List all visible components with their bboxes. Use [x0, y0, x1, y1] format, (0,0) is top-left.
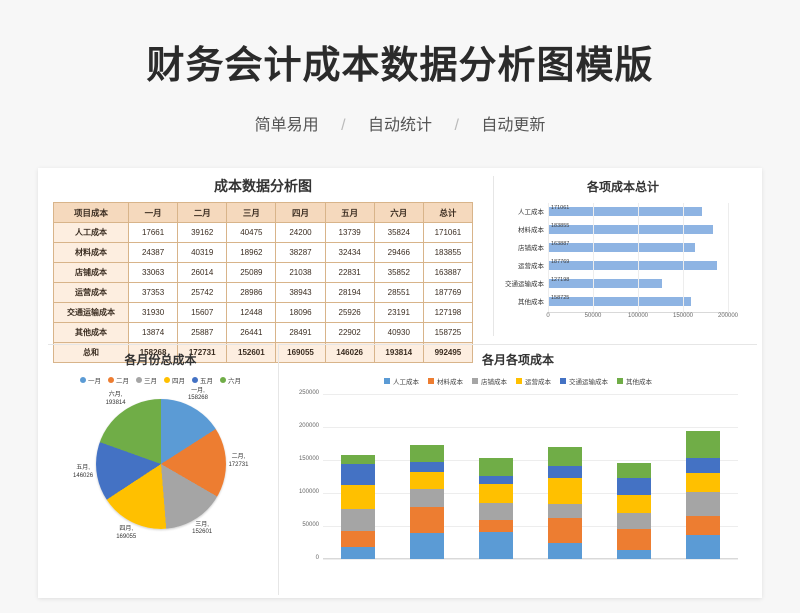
table-cell: 33063 [129, 263, 178, 283]
stacked-segment [686, 516, 720, 535]
table-cell: 35824 [374, 223, 423, 243]
table-col-header: 一月 [129, 203, 178, 223]
table-cell: 24200 [276, 223, 325, 243]
legend-swatch [516, 378, 522, 384]
table-cell: 18096 [276, 303, 325, 323]
table-cell: 25089 [227, 263, 276, 283]
table-cell: 28194 [325, 283, 374, 303]
table-cell: 23191 [374, 303, 423, 323]
stacked-segment [341, 485, 375, 510]
hbar-gridline [638, 203, 639, 313]
total-cost-chart-title: 各项成本总计 [494, 178, 752, 195]
stacked-segment [548, 518, 582, 543]
table-col-header: 四月 [276, 203, 325, 223]
table-cell: 29466 [374, 243, 423, 263]
table-row-label: 材料成本 [54, 243, 129, 263]
stacked-column [410, 445, 444, 559]
table-cell: 26441 [227, 323, 276, 343]
table-cell: 25926 [325, 303, 374, 323]
stacked-segment [479, 532, 513, 559]
hbar-x-tick-labels: 050000100000150000200000 [548, 313, 728, 325]
stacked-segment [617, 513, 651, 528]
stacked-legend-item[interactable]: 交通运输成本 [560, 376, 608, 386]
pie-data-label: 三月,152601 [180, 522, 224, 537]
stacked-column [341, 455, 375, 559]
table-cell: 12448 [227, 303, 276, 323]
stacked-legend-item[interactable]: 材料成本 [428, 376, 463, 386]
stacked-segment [548, 447, 582, 466]
hbar-category-label: 人工成本 [494, 206, 544, 216]
cost-table-section: 成本数据分析图 项目成本一月二月三月四月五月六月总计 人工成本176613916… [53, 176, 473, 363]
table-col-header: 六月 [374, 203, 423, 223]
hbar-bar [548, 243, 695, 252]
pie-data-label: 一月,158268 [176, 388, 220, 403]
stacked-segment [410, 507, 444, 534]
table-cell: 38943 [276, 283, 325, 303]
table-row-label: 交通运输成本 [54, 303, 129, 323]
stacked-segment [479, 476, 513, 484]
pie-legend-item[interactable]: 四月 [164, 375, 185, 385]
hbar-bar [548, 225, 713, 234]
legend-swatch [617, 378, 623, 384]
table-cell: 32434 [325, 243, 374, 263]
hbar-category-label: 运营成本 [494, 260, 544, 270]
hbar-value-label: 127198 [551, 277, 569, 283]
table-header-row: 项目成本一月二月三月四月五月六月总计 [54, 203, 473, 223]
pie-legend-item[interactable]: 一月 [80, 375, 101, 385]
legend-swatch [108, 377, 114, 383]
stacked-segment [341, 547, 375, 559]
stacked-segment [341, 455, 375, 464]
hbar-category-label: 店铺成本 [494, 242, 544, 252]
table-cell: 171061 [423, 223, 472, 243]
stacked-gridline [323, 394, 738, 395]
table-cell: 40319 [178, 243, 227, 263]
cost-table: 项目成本一月二月三月四月五月六月总计 人工成本17661391624047524… [53, 202, 473, 363]
monthly-total-pie-chart: 各月份总成本 一月二月三月四月五月六月 一月,158268二月,172731三月… [48, 344, 273, 595]
stacked-segment [410, 472, 444, 489]
pie-legend-item[interactable]: 二月 [108, 375, 129, 385]
table-cell: 127198 [423, 303, 472, 323]
table-row-label: 运营成本 [54, 283, 129, 303]
table-cell: 163887 [423, 263, 472, 283]
table-cell: 183855 [423, 243, 472, 263]
hbar-gridline [548, 203, 549, 313]
table-cell: 26014 [178, 263, 227, 283]
hbar-bar [548, 261, 717, 270]
table-row: 店铺成本330632601425089210382283135852163887 [54, 263, 473, 283]
table-row-label: 人工成本 [54, 223, 129, 243]
legend-label: 六月 [228, 375, 241, 385]
subtitle-item-2: 自动统计 [368, 117, 432, 134]
stacked-segment [617, 550, 651, 559]
stacked-segment [341, 531, 375, 547]
stacked-gridline [323, 460, 738, 461]
stacked-segment [548, 504, 582, 518]
subtitle-item-3: 自动更新 [481, 117, 545, 134]
hbar-bar [548, 207, 702, 216]
stacked-segment [341, 464, 375, 485]
stacked-segment [548, 478, 582, 504]
hbar-category-label: 交通运输成本 [494, 278, 544, 288]
stacked-legend-item[interactable]: 其他成本 [617, 376, 652, 386]
stacked-y-tick: 250000 [281, 390, 319, 396]
legend-swatch [384, 378, 390, 384]
legend-label: 运营成本 [525, 376, 551, 386]
table-row: 其他成本138742588726441284912290240930158725 [54, 323, 473, 343]
table-col-header: 二月 [178, 203, 227, 223]
hbar-gridline [728, 203, 729, 313]
table-row-label: 店铺成本 [54, 263, 129, 283]
pie-data-label: 六月,193814 [94, 392, 138, 407]
hbar-gridline [593, 203, 594, 313]
stacked-legend-item[interactable]: 人工成本 [384, 376, 419, 386]
stacked-segment [479, 484, 513, 503]
table-row: 人工成本176613916240475242001373935824171061 [54, 223, 473, 243]
pie-legend: 一月二月三月四月五月六月 [48, 375, 273, 385]
stacked-chart-legend: 人工成本材料成本店铺成本运营成本交通运输成本其他成本 [279, 376, 757, 386]
stacked-segment [479, 520, 513, 533]
table-cell: 13739 [325, 223, 374, 243]
legend-label: 二月 [116, 375, 129, 385]
table-cell: 31930 [129, 303, 178, 323]
table-cell: 40475 [227, 223, 276, 243]
table-col-header: 三月 [227, 203, 276, 223]
stacked-gridline [323, 493, 738, 494]
cost-table-title: 成本数据分析图 [53, 176, 473, 196]
table-cell: 35852 [374, 263, 423, 283]
legend-swatch [428, 378, 434, 384]
stacked-gridline [323, 427, 738, 428]
stacked-segment [617, 495, 651, 514]
stacked-legend-item[interactable]: 运营成本 [516, 376, 551, 386]
stacked-column [548, 447, 582, 559]
table-col-header: 项目成本 [54, 203, 129, 223]
table-cell: 28491 [276, 323, 325, 343]
table-cell: 25742 [178, 283, 227, 303]
table-cell: 39162 [178, 223, 227, 243]
stacked-segment [479, 458, 513, 475]
subtitle-item-1: 简单易用 [255, 117, 319, 134]
table-cell: 28986 [227, 283, 276, 303]
table-cell: 37353 [129, 283, 178, 303]
table-cell: 17661 [129, 223, 178, 243]
hbar-x-tick: 50000 [585, 313, 602, 319]
hbar-gridline [683, 203, 684, 313]
legend-label: 人工成本 [393, 376, 419, 386]
pie-chart-title: 各月份总成本 [48, 351, 273, 368]
subtitle-bar: 简单易用 / 自动统计 / 自动更新 [0, 111, 800, 135]
hbar-category-label: 其他成本 [494, 296, 544, 306]
monthly-item-stacked-chart: 各月各项成本 人工成本材料成本店铺成本运营成本交通运输成本其他成本 050000… [278, 344, 757, 595]
pie-plot-area: 一月,158268二月,172731三月,152601四月,169055五月,1… [76, 391, 246, 561]
pie-data-label: 五月,146026 [61, 465, 105, 480]
table-cell: 40930 [374, 323, 423, 343]
total-cost-plot-area: 人工成本171061材料成本183855店铺成本163887运营成本187769… [548, 203, 728, 313]
stacked-legend-item[interactable]: 店铺成本 [472, 376, 507, 386]
legend-label: 一月 [88, 375, 101, 385]
stacked-segment [479, 503, 513, 520]
legend-swatch [164, 377, 170, 383]
stacked-segment [686, 535, 720, 559]
hbar-value-label: 163887 [551, 241, 569, 247]
table-cell: 18962 [227, 243, 276, 263]
stacked-segment [548, 543, 582, 559]
hbar-value-label: 171061 [551, 205, 569, 211]
table-cell: 158725 [423, 323, 472, 343]
pie-data-label: 二月,172731 [216, 454, 260, 469]
stacked-y-tick: 0 [281, 555, 319, 561]
hbar-x-tick: 100000 [628, 313, 648, 319]
table-row-label: 其他成本 [54, 323, 129, 343]
legend-label: 其他成本 [626, 376, 652, 386]
stacked-segment [686, 492, 720, 516]
subtitle-separator-2: / [454, 117, 458, 134]
stacked-y-tick: 100000 [281, 489, 319, 495]
table-row: 运营成本373532574228986389432819428551187769 [54, 283, 473, 303]
stacked-segment [617, 478, 651, 495]
table-col-header: 总计 [423, 203, 472, 223]
hbar-x-tick: 200000 [718, 313, 738, 319]
legend-label: 五月 [200, 375, 213, 385]
hbar-value-label: 158725 [551, 295, 569, 301]
legend-label: 交通运输成本 [569, 376, 608, 386]
stacked-y-tick: 50000 [281, 522, 319, 528]
table-cell: 187769 [423, 283, 472, 303]
table-cell: 13874 [129, 323, 178, 343]
pie-disc [96, 399, 226, 529]
stacked-chart-title: 各月各项成本 [279, 351, 757, 368]
stacked-segment [686, 431, 720, 458]
stacked-column [617, 463, 651, 559]
legend-label: 三月 [144, 375, 157, 385]
stacked-segment [548, 466, 582, 478]
stacked-segment [686, 458, 720, 473]
table-row: 材料成本243874031918962382873243429466183855 [54, 243, 473, 263]
legend-swatch [560, 378, 566, 384]
legend-swatch [220, 377, 226, 383]
stacked-column [479, 458, 513, 559]
pie-legend-item[interactable]: 三月 [136, 375, 157, 385]
stacked-segment [410, 489, 444, 506]
stacked-segment [617, 463, 651, 478]
dashboard-board: 成本数据分析图 项目成本一月二月三月四月五月六月总计 人工成本176613916… [38, 168, 762, 598]
table-cell: 25887 [178, 323, 227, 343]
table-cell: 21038 [276, 263, 325, 283]
pie-legend-item[interactable]: 五月 [192, 375, 213, 385]
legend-swatch [80, 377, 86, 383]
hbar-bar [548, 297, 691, 306]
stacked-gridline [323, 559, 738, 560]
legend-swatch [136, 377, 142, 383]
subtitle-separator-1: / [341, 117, 345, 134]
hbar-value-label: 183855 [551, 223, 569, 229]
stacked-segment [617, 529, 651, 550]
hbar-x-tick: 0 [546, 313, 549, 319]
stacked-segment [341, 509, 375, 531]
table-cell: 28551 [374, 283, 423, 303]
hbar-x-tick: 150000 [673, 313, 693, 319]
table-cell: 22902 [325, 323, 374, 343]
hbar-value-label: 187769 [551, 259, 569, 265]
legend-label: 材料成本 [437, 376, 463, 386]
legend-label: 店铺成本 [481, 376, 507, 386]
legend-label: 四月 [172, 375, 185, 385]
pie-legend-item[interactable]: 六月 [220, 375, 241, 385]
page-title: 财务会计成本数据分析图模版 [0, 0, 800, 89]
stacked-segment [410, 533, 444, 559]
table-cell: 24387 [129, 243, 178, 263]
stacked-plot-area: 050000100000150000200000250000 [323, 394, 738, 559]
table-cell: 38287 [276, 243, 325, 263]
hbar-category-label: 材料成本 [494, 224, 544, 234]
table-cell: 15607 [178, 303, 227, 323]
table-row: 交通运输成本3193015607124481809625926231911271… [54, 303, 473, 323]
stacked-gridline [323, 526, 738, 527]
stacked-segment [686, 473, 720, 492]
stacked-column [686, 431, 720, 559]
stacked-y-tick: 200000 [281, 423, 319, 429]
legend-swatch [192, 377, 198, 383]
stacked-y-tick: 150000 [281, 456, 319, 462]
stacked-segment [410, 462, 444, 472]
stacked-segment [410, 445, 444, 462]
table-col-header: 五月 [325, 203, 374, 223]
pie-data-label: 四月,169055 [104, 526, 148, 541]
legend-swatch [472, 378, 478, 384]
total-cost-bar-chart: 各项成本总计 人工成本171061材料成本183855店铺成本163887运营成… [493, 176, 752, 336]
table-cell: 22831 [325, 263, 374, 283]
